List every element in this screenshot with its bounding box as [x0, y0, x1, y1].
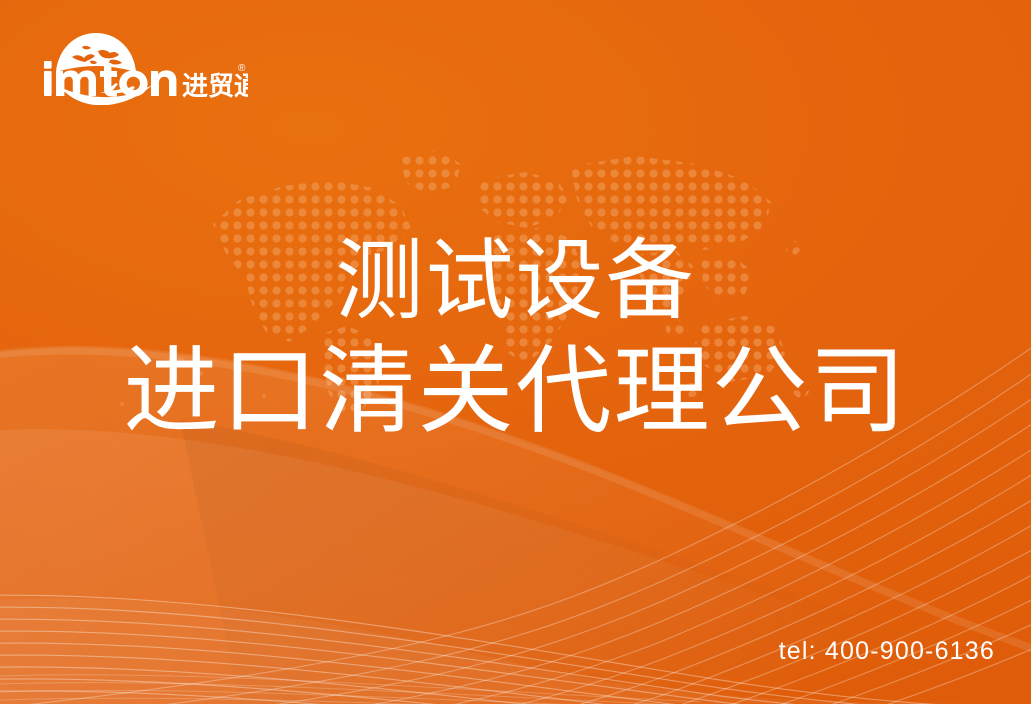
logo-chinese-name: 进贸通 [182, 71, 248, 101]
contact-telephone: tel: 400-900-6136 [779, 637, 995, 666]
headline-line-2: 进口清关代理公司 [0, 340, 1031, 444]
headline-line-1: 测试设备 [0, 233, 1031, 328]
logo-trademark-symbol: ® [238, 63, 246, 74]
globe-dome-icon [54, 33, 136, 72]
promo-banner: 进贸通 ® 测试设备 进口清关代理公司 tel: 400-900-6136 [0, 0, 1031, 704]
headline: 测试设备 进口清关代理公司 [0, 233, 1031, 444]
brand-logo[interactable]: 进贸通 ® [38, 27, 248, 105]
